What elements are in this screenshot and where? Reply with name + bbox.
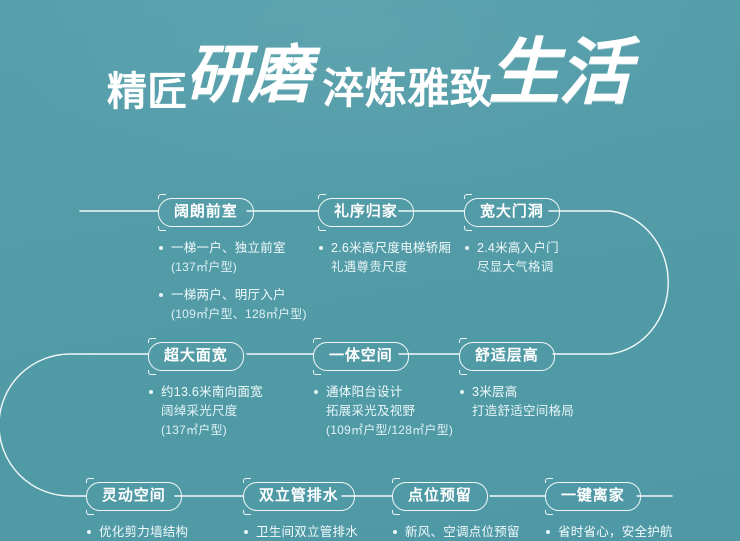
feature-label: 一键离家	[545, 482, 641, 511]
poster-canvas: 精匠研磨淬炼雅致生活 阔朗前室 一梯一户、独立前室(137	[0, 0, 740, 541]
bullet-note: (137㎡户型)	[171, 258, 307, 277]
feature-bullet-list: 约13.6米南向面宽阔绰采光尺度(137㎡户型)	[148, 383, 263, 440]
list-item: 一梯两户、明厅入户(109㎡户型、128㎡户型)	[158, 286, 307, 324]
feature-card-kuandamendong[interactable]: 宽大门洞 2.4米高入户门尽显大气格调	[464, 198, 560, 286]
bullet-main: 一梯一户、独立前室	[171, 241, 286, 255]
page-title: 精匠研磨淬炼雅致生活	[0, 34, 740, 146]
bullet-main: 2.6米高尺度电梯轿厢	[331, 241, 451, 255]
bullet-note: (109㎡户型、128㎡户型)	[171, 305, 307, 324]
bullet-main: 一梯两户、明厅入户	[171, 288, 286, 302]
bullet-main: 卫生间双立管排水	[256, 525, 358, 539]
list-item: 优化剪力墙结构实现空间多变	[86, 523, 188, 541]
title-segment-4: 生活	[488, 37, 629, 109]
feature-label: 一体空间	[313, 342, 409, 371]
bullet-sub: 尽显大气格调	[477, 258, 560, 277]
list-item: 约13.6米南向面宽阔绰采光尺度(137㎡户型)	[148, 383, 263, 440]
feature-bullet-list: 3米层高打造舒适空间格局	[459, 383, 574, 421]
bullet-main: 3米层高	[472, 385, 517, 399]
bullet-sub: 打造舒适空间格局	[472, 402, 574, 421]
bullet-dot	[159, 246, 163, 250]
bullet-dot	[159, 293, 163, 297]
list-item: 省时省心，安全护航	[545, 523, 673, 541]
feature-card-dianweiyuliu[interactable]: 点位预留 新风、空调点位预留便于后期装修	[392, 482, 520, 541]
feature-card-yitikongjian[interactable]: 一体空间 通体阳台设计拓展采光及视野(109㎡户型/128㎡户型)	[313, 342, 453, 449]
bullet-main: 2.4米高入户门	[477, 241, 559, 255]
bullet-main: 优化剪力墙结构	[99, 525, 188, 539]
feature-bullet-list: 一梯一户、独立前室(137㎡户型) 一梯两户、明厅入户(109㎡户型、128㎡户…	[158, 239, 307, 324]
bullet-dot	[319, 246, 323, 250]
title-segment-2: 研磨	[186, 44, 311, 107]
bullet-dot	[460, 390, 464, 394]
feature-label: 超大面宽	[148, 342, 244, 371]
feature-label: 灵动空间	[86, 482, 182, 511]
title-segment-1: 精匠	[107, 72, 188, 112]
feature-bullet-list: 通体阳台设计拓展采光及视野(109㎡户型/128㎡户型)	[313, 383, 453, 440]
feature-bullet-list: 新风、空调点位预留便于后期装修	[392, 523, 520, 541]
feature-card-lingdongkongjian[interactable]: 灵动空间 优化剪力墙结构实现空间多变	[86, 482, 188, 541]
bullet-dot	[87, 530, 91, 534]
bullet-dot	[314, 390, 318, 394]
feature-card-chaodamiankuan[interactable]: 超大面宽 约13.6米南向面宽阔绰采光尺度(137㎡户型)	[148, 342, 263, 449]
bullet-dot	[244, 530, 248, 534]
bullet-sub: 拓展采光及视野	[326, 402, 453, 421]
feature-label: 礼序归家	[318, 198, 414, 227]
list-item: 2.4米高入户门尽显大气格调	[464, 239, 560, 277]
feature-label: 阔朗前室	[158, 198, 254, 227]
bullet-dot	[149, 390, 153, 394]
feature-bullet-list: 2.6米高尺度电梯轿厢礼遇尊贵尺度	[318, 239, 451, 277]
list-item: 通体阳台设计拓展采光及视野(109㎡户型/128㎡户型)	[313, 383, 453, 440]
list-item: 一梯一户、独立前室(137㎡户型)	[158, 239, 307, 277]
list-item: 新风、空调点位预留便于后期装修	[392, 523, 520, 541]
feature-bullet-list: 2.4米高入户门尽显大气格调	[464, 239, 560, 277]
connector-right-uturn	[549, 211, 668, 354]
bullet-main: 通体阳台设计	[326, 385, 403, 399]
feature-bullet-list: 优化剪力墙结构实现空间多变	[86, 523, 188, 541]
feature-card-lixuguijia[interactable]: 礼序归家 2.6米高尺度电梯轿厢礼遇尊贵尺度	[318, 198, 451, 286]
bullet-main: 省时省心，安全护航	[558, 525, 673, 539]
feature-card-shushicenggao[interactable]: 舒适层高 3米层高打造舒适空间格局	[459, 342, 574, 430]
bullet-main: 新风、空调点位预留	[405, 525, 520, 539]
feature-card-kuolangqianshi[interactable]: 阔朗前室 一梯一户、独立前室(137㎡户型) 一梯两户、明厅入户(109㎡户型、…	[158, 198, 307, 333]
feature-bullet-list: 省时省心，安全护航	[545, 523, 673, 541]
feature-bullet-list: 卫生间双立管排水有效防止异味	[243, 523, 358, 541]
title-segment-3: 淬炼雅致	[322, 68, 492, 110]
feature-card-yijianlijia[interactable]: 一键离家 省时省心，安全护航	[545, 482, 673, 541]
bullet-dot	[465, 246, 469, 250]
feature-label: 舒适层高	[459, 342, 555, 371]
bullet-dot	[546, 530, 550, 534]
bullet-main: 约13.6米南向面宽	[161, 385, 263, 399]
feature-label: 点位预留	[392, 482, 488, 511]
list-item: 卫生间双立管排水有效防止异味	[243, 523, 358, 541]
feature-label: 宽大门洞	[464, 198, 560, 227]
bullet-dot	[393, 530, 397, 534]
bullet-note: (137㎡户型)	[161, 421, 263, 440]
bullet-note: (109㎡户型/128㎡户型)	[326, 421, 453, 440]
list-item: 3米层高打造舒适空间格局	[459, 383, 574, 421]
list-item: 2.6米高尺度电梯轿厢礼遇尊贵尺度	[318, 239, 451, 277]
connector-left-uturn	[0, 354, 90, 496]
bullet-sub: 礼遇尊贵尺度	[331, 258, 451, 277]
feature-label: 双立管排水	[243, 482, 355, 511]
bullet-sub: 阔绰采光尺度	[161, 402, 263, 421]
feature-card-shuanglìguanpaishui[interactable]: 双立管排水 卫生间双立管排水有效防止异味	[243, 482, 358, 541]
